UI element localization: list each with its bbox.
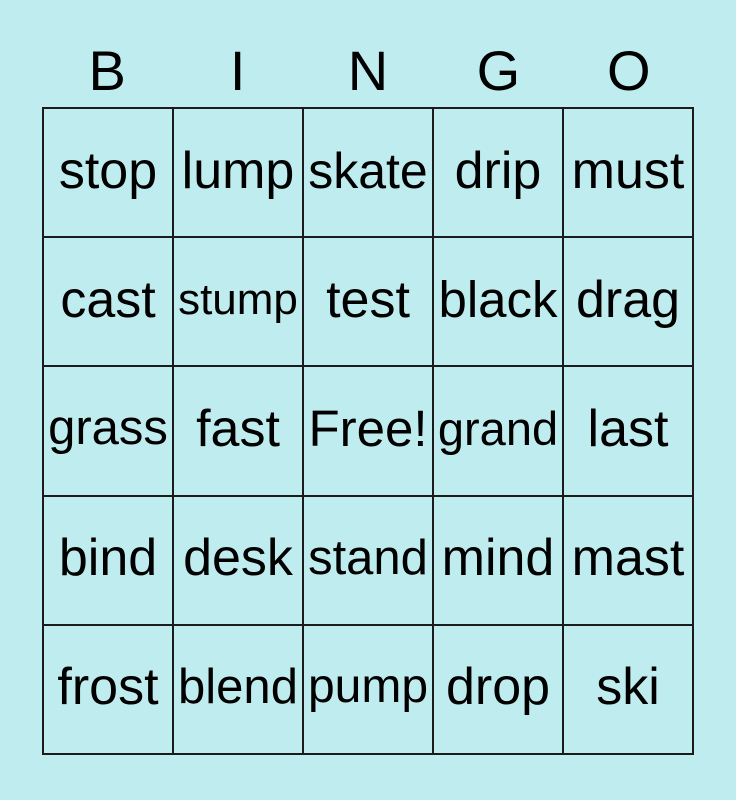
- bingo-cell-label: mind: [442, 532, 555, 584]
- bingo-header: B I N G O: [42, 34, 694, 107]
- bingo-cell-r1c1[interactable]: stop: [44, 109, 174, 238]
- bingo-cell-r3c2[interactable]: fast: [174, 367, 304, 496]
- bingo-cell-label: grass: [48, 404, 168, 453]
- bingo-free-space-label: Free!: [308, 403, 427, 454]
- bingo-cell-label: mast: [572, 532, 685, 584]
- bingo-cell-r5c3[interactable]: pump: [304, 626, 434, 755]
- bingo-cell-label: test: [326, 274, 410, 326]
- bingo-cell-r4c4[interactable]: mind: [434, 497, 564, 626]
- header-letter-n: N: [303, 34, 433, 107]
- bingo-cell-label: blend: [178, 663, 298, 712]
- bingo-cell-r1c2[interactable]: lump: [174, 109, 304, 238]
- bingo-cell-label: must: [572, 145, 685, 197]
- bingo-cell-r2c5[interactable]: drag: [564, 238, 694, 367]
- bingo-cell-free-space[interactable]: Free!: [304, 367, 434, 496]
- bingo-grid: stop lump skate drip must cast stump tes…: [42, 107, 694, 755]
- bingo-cell-r4c5[interactable]: mast: [564, 497, 694, 626]
- header-letter-o: O: [564, 34, 694, 107]
- header-letter-g: G: [433, 34, 563, 107]
- bingo-cell-r2c2[interactable]: stump: [174, 238, 304, 367]
- bingo-cell-label: cast: [60, 274, 155, 326]
- bingo-cell-r5c1[interactable]: frost: [44, 626, 174, 755]
- bingo-cell-r4c1[interactable]: bind: [44, 497, 174, 626]
- bingo-cell-label: grand: [438, 405, 558, 452]
- bingo-cell-r4c2[interactable]: desk: [174, 497, 304, 626]
- bingo-cell-r2c1[interactable]: cast: [44, 238, 174, 367]
- bingo-cell-label: stump: [178, 278, 298, 322]
- bingo-cell-r3c4[interactable]: grand: [434, 367, 564, 496]
- bingo-cell-r4c3[interactable]: stand: [304, 497, 434, 626]
- bingo-cell-label: fast: [196, 403, 280, 455]
- bingo-cell-label: stand: [308, 534, 428, 583]
- bingo-cell-r2c4[interactable]: black: [434, 238, 564, 367]
- bingo-cell-r1c3[interactable]: skate: [304, 109, 434, 238]
- bingo-cell-label: drop: [446, 661, 550, 713]
- bingo-cell-label: stop: [59, 145, 157, 197]
- bingo-cell-r5c2[interactable]: blend: [174, 626, 304, 755]
- bingo-cell-label: ski: [596, 661, 660, 713]
- bingo-cell-r5c5[interactable]: ski: [564, 626, 694, 755]
- bingo-cell-r1c4[interactable]: drip: [434, 109, 564, 238]
- bingo-cell-label: black: [438, 274, 557, 325]
- bingo-cell-label: drag: [576, 274, 680, 326]
- bingo-cell-label: frost: [57, 661, 158, 713]
- bingo-cell-label: bind: [59, 532, 157, 584]
- bingo-cell-label: desk: [183, 532, 293, 584]
- bingo-cell-label: last: [588, 403, 669, 455]
- bingo-cell-r5c4[interactable]: drop: [434, 626, 564, 755]
- header-letter-i: I: [172, 34, 302, 107]
- header-letter-b: B: [42, 34, 172, 107]
- bingo-cell-r1c5[interactable]: must: [564, 109, 694, 238]
- bingo-cell-label: lump: [182, 145, 295, 197]
- bingo-cell-label: pump: [308, 663, 428, 711]
- bingo-cell-r3c1[interactable]: grass: [44, 367, 174, 496]
- bingo-card: B I N G O stop lump skate drip must cast…: [0, 0, 736, 800]
- bingo-cell-r3c5[interactable]: last: [564, 367, 694, 496]
- bingo-cell-label: skate: [308, 146, 428, 196]
- bingo-cell-label: drip: [455, 145, 542, 197]
- bingo-cell-r2c3[interactable]: test: [304, 238, 434, 367]
